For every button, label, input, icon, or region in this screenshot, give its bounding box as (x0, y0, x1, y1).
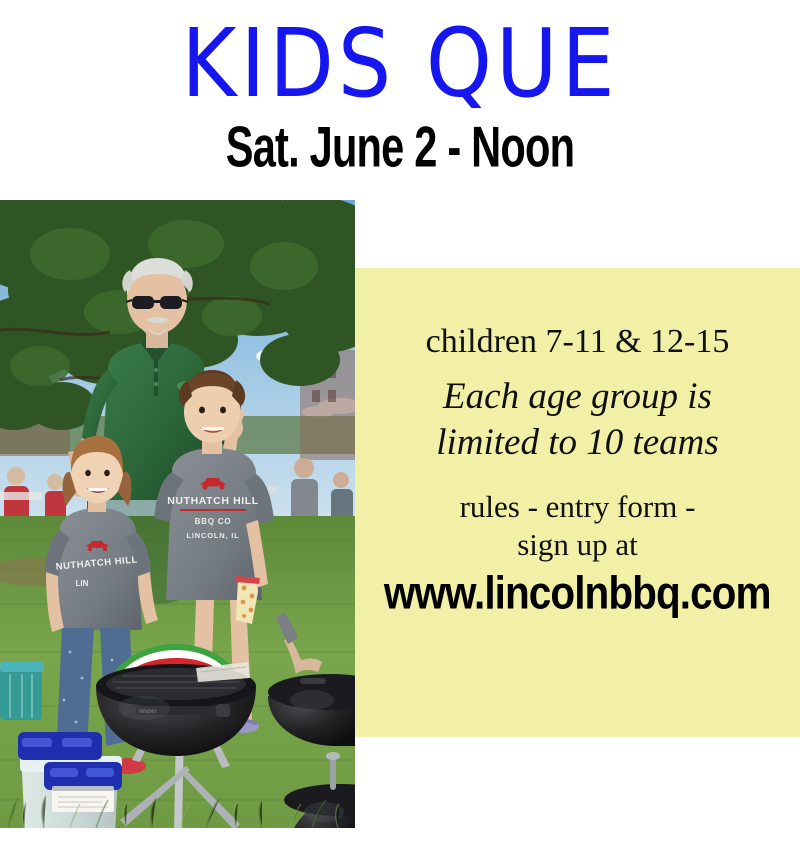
website-url[interactable]: www.lincolnbbq.com (384, 568, 771, 619)
team-limit-line-1: Each age group is (443, 376, 712, 418)
rules-line-1: rules - entry form - (460, 488, 696, 526)
event-photo: NUTHATCH HILL BBQ CO LINCOLN, IL (0, 200, 355, 828)
svg-text:LINCOLN, IL: LINCOLN, IL (187, 531, 240, 540)
svg-text:LIN: LIN (76, 579, 89, 588)
page-title: KIDS QUE (0, 12, 800, 115)
team-limit-line-2: limited to 10 teams (436, 422, 719, 464)
flyer-header: KIDS QUE Sat. June 2 - Noon (0, 0, 800, 195)
event-datetime: Sat. June 2 - Noon (80, 115, 720, 181)
rules-line-2: sign up at (517, 526, 638, 564)
svg-text:NUTHATCH HILL: NUTHATCH HILL (167, 495, 259, 507)
svg-text:BBQ CO: BBQ CO (195, 517, 232, 526)
age-groups-text: children 7-11 & 12-15 (426, 322, 730, 362)
info-panel: children 7-11 & 12-15 Each age group is … (355, 268, 800, 737)
photo-illustration: NUTHATCH HILL BBQ CO LINCOLN, IL (0, 200, 355, 828)
flyer-canvas: KIDS QUE Sat. June 2 - Noon (0, 0, 800, 855)
